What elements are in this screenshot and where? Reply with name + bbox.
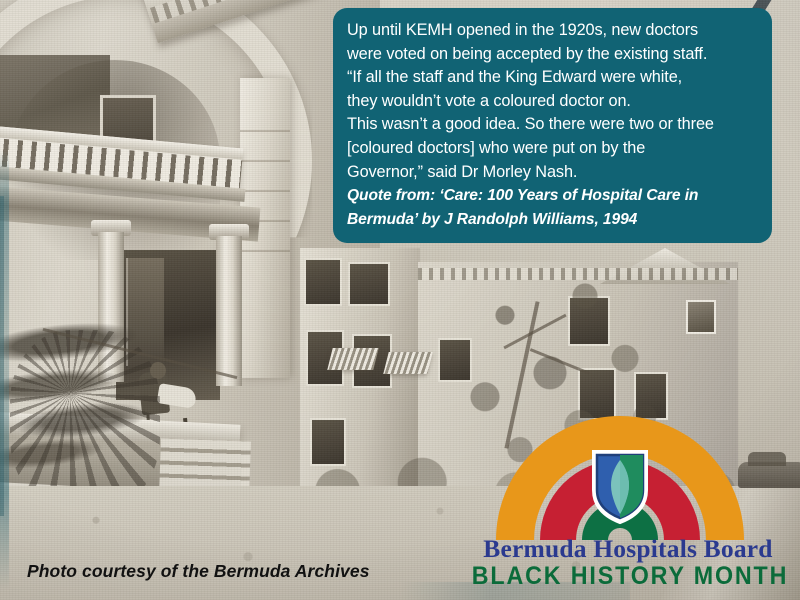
- quote-line: This wasn’t a good idea. So there were t…: [347, 113, 758, 137]
- quote-source-line: Quote from: ‘Care: 100 Years of Hospital…: [347, 184, 758, 208]
- quote-card: Up until KEMH opened in the 1920s, new d…: [333, 8, 772, 243]
- quote-line: [coloured doctors] who were put on by th…: [347, 137, 758, 161]
- quote-line: they wouldn’t vote a coloured doctor on.: [347, 90, 758, 114]
- quote-line: “If all the staff and the King Edward we…: [347, 66, 758, 90]
- shield-icon: [594, 452, 646, 522]
- quote-line: Up until KEMH opened in the 1920s, new d…: [347, 19, 758, 43]
- quote-line: Governor,” said Dr Morley Nash.: [347, 161, 758, 185]
- slide-canvas: Up until KEMH opened in the 1920s, new d…: [0, 0, 800, 600]
- logo-title: Bermuda Hospitals Board: [460, 534, 796, 564]
- rainbow-arcs-icon: [488, 408, 752, 540]
- quote-source-line: Bermuda’ by J Randolph Williams, 1994: [347, 208, 758, 232]
- photo-credit: Photo courtesy of the Bermuda Archives: [27, 561, 370, 582]
- bhb-logo: Bermuda Hospitals Board BLACK HISTORY MO…: [460, 408, 796, 594]
- logo-subtitle: BLACK HISTORY MONTH: [472, 562, 784, 591]
- quote-line: were voted on being accepted by the exis…: [347, 43, 758, 67]
